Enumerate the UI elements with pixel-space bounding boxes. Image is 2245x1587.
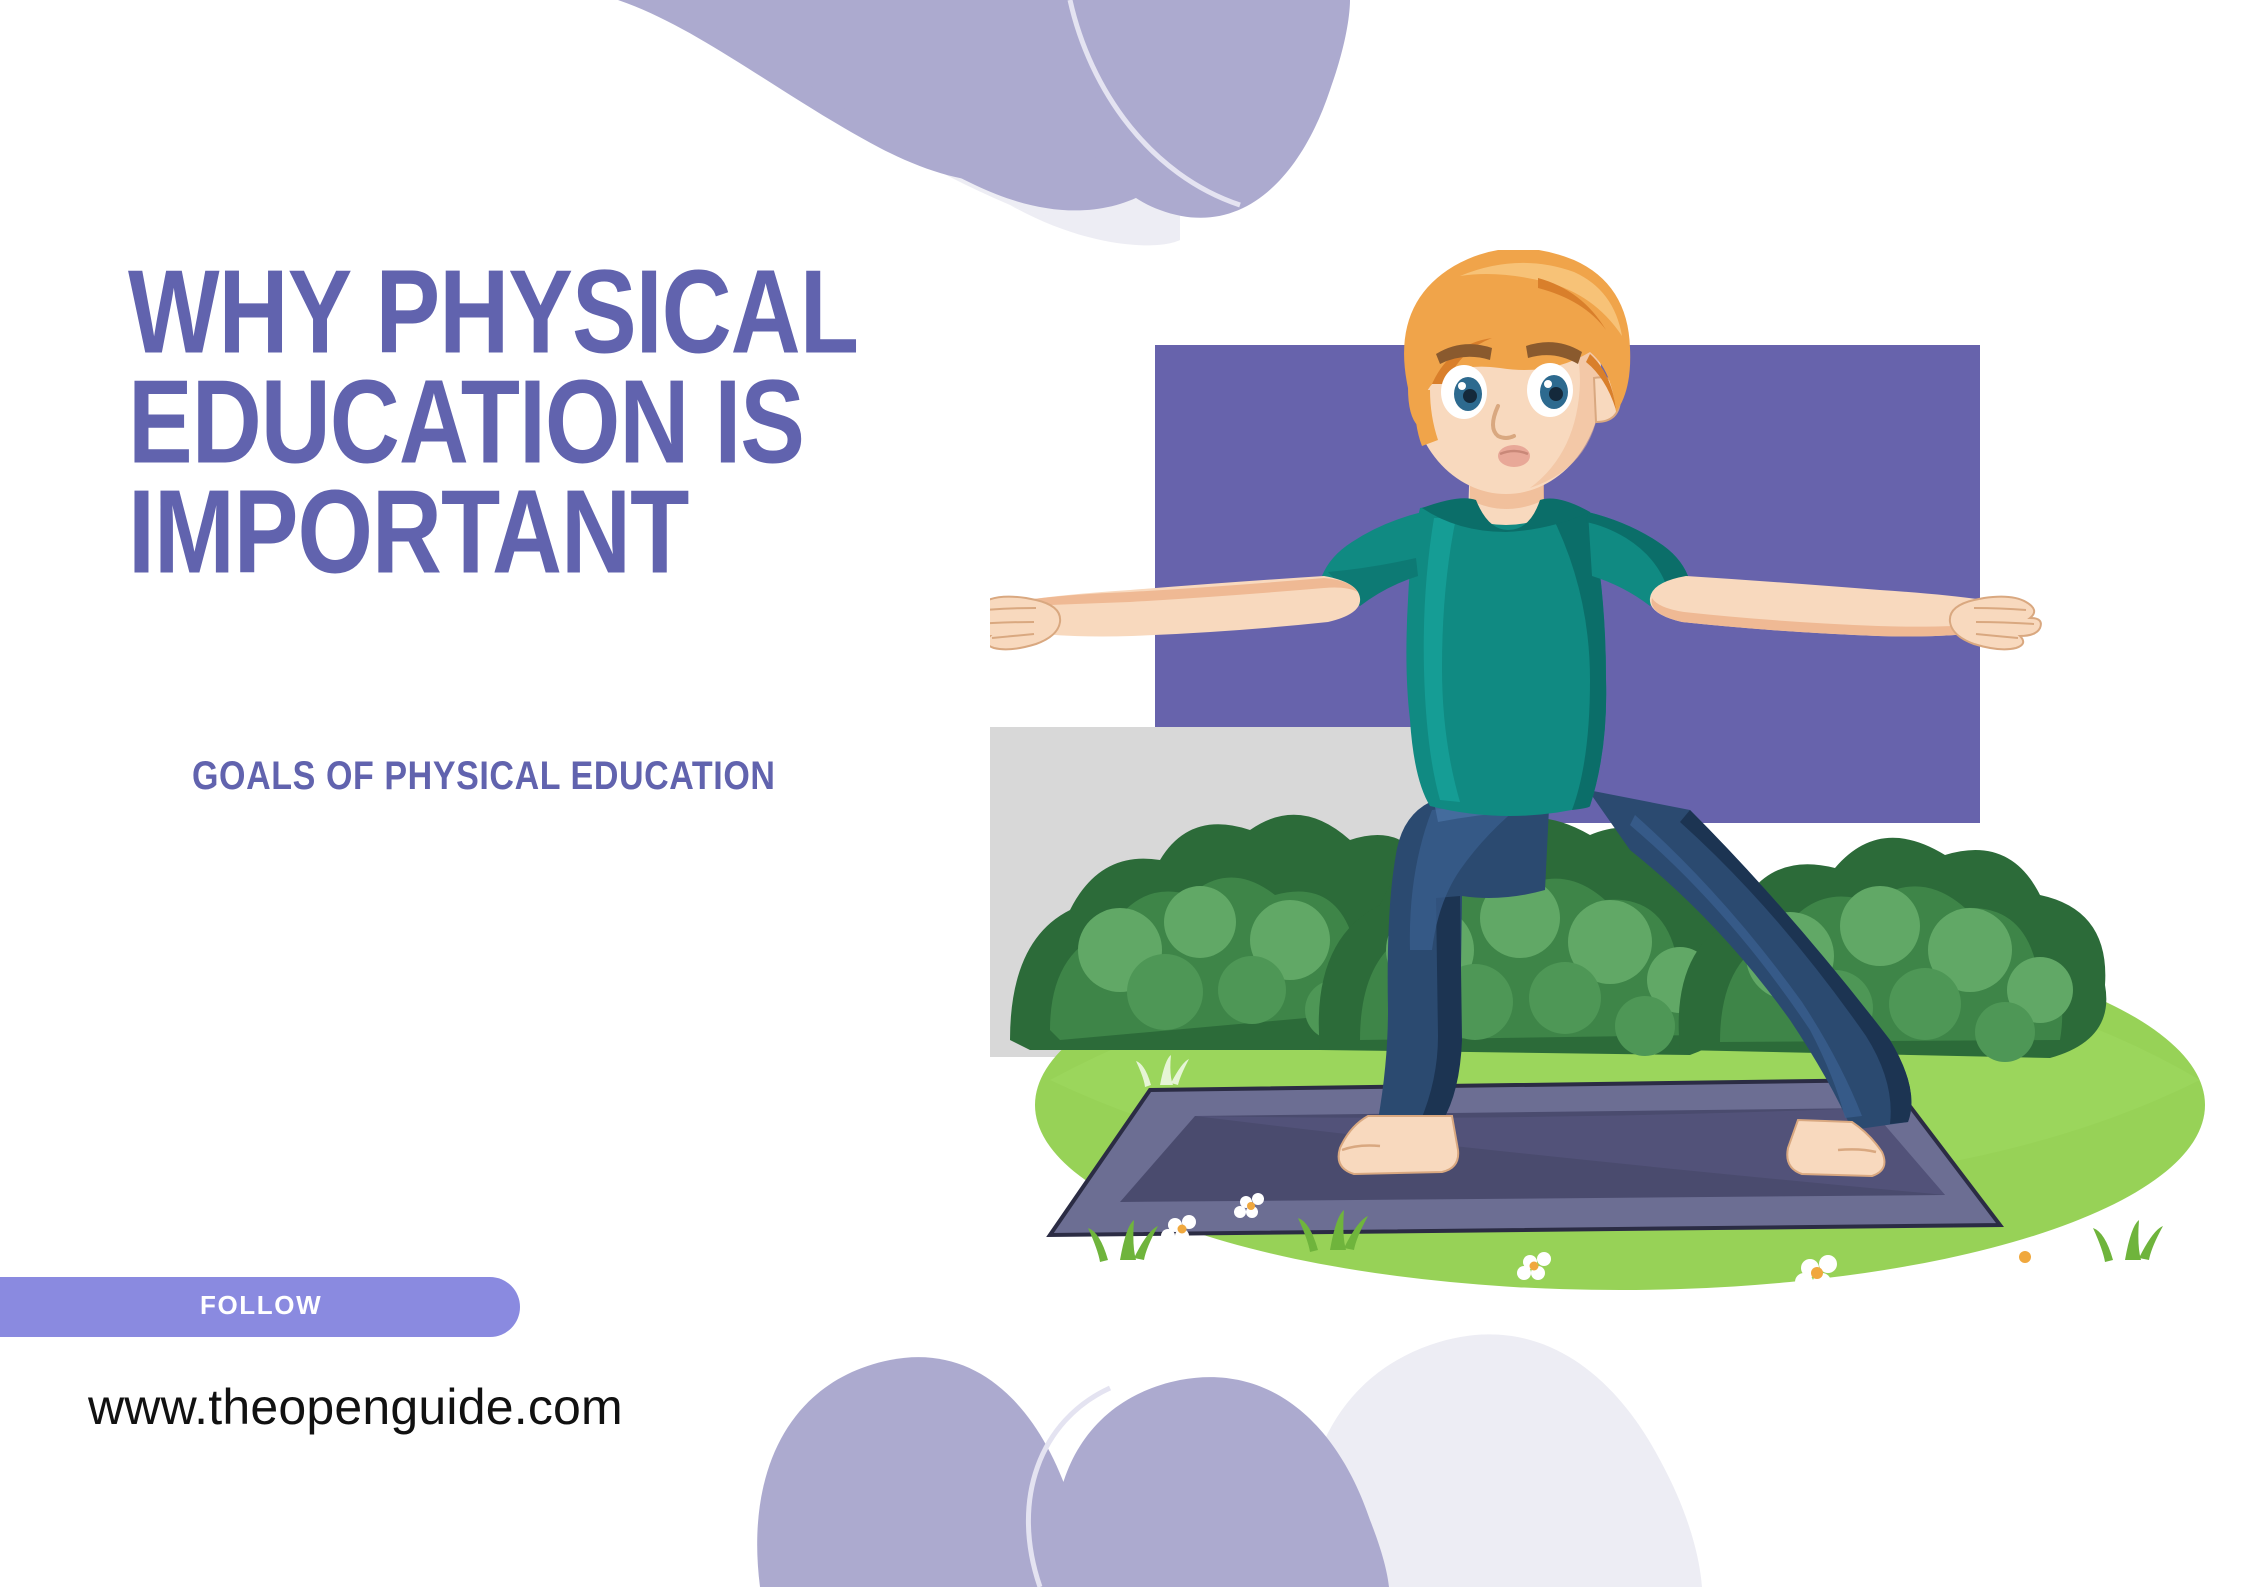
poster-canvas: WHY PHYSICAL EDUCATION IS IMPORTANT GOAL… [0,0,2245,1587]
eye-right-pupil [1549,387,1563,401]
eye-left-glint [1458,382,1466,390]
eye-right-glint [1544,380,1552,388]
flower [2003,1239,2045,1275]
top-blob-arc-line [1070,0,1240,205]
bottom-blob-arc-line [1028,1388,1110,1587]
top-blob-purple-right [1050,0,1350,218]
bottom-blob-purple [757,1357,1092,1587]
bottom-blob-purple-2 [1055,1377,1389,1587]
mouth [1498,445,1530,467]
hero-illustration [990,250,2245,1350]
yoga-boy-scene [990,250,2245,1350]
follow-button-label: FOLLOW [200,1290,322,1321]
bottom-blob-gray [1305,1334,1702,1587]
top-blob-purple [618,0,1186,183]
eye-left-pupil [1463,389,1477,403]
front-foot [1339,1116,1459,1174]
top-blob-gray-2 [1010,0,1180,245]
website-url[interactable]: www.theopenguide.com [88,1378,623,1436]
top-blob-gray-shadow [640,0,1180,216]
top-blob-purple-main [660,0,1238,210]
page-subtitle: GOALS OF PHYSICAL EDUCATION [192,754,776,799]
